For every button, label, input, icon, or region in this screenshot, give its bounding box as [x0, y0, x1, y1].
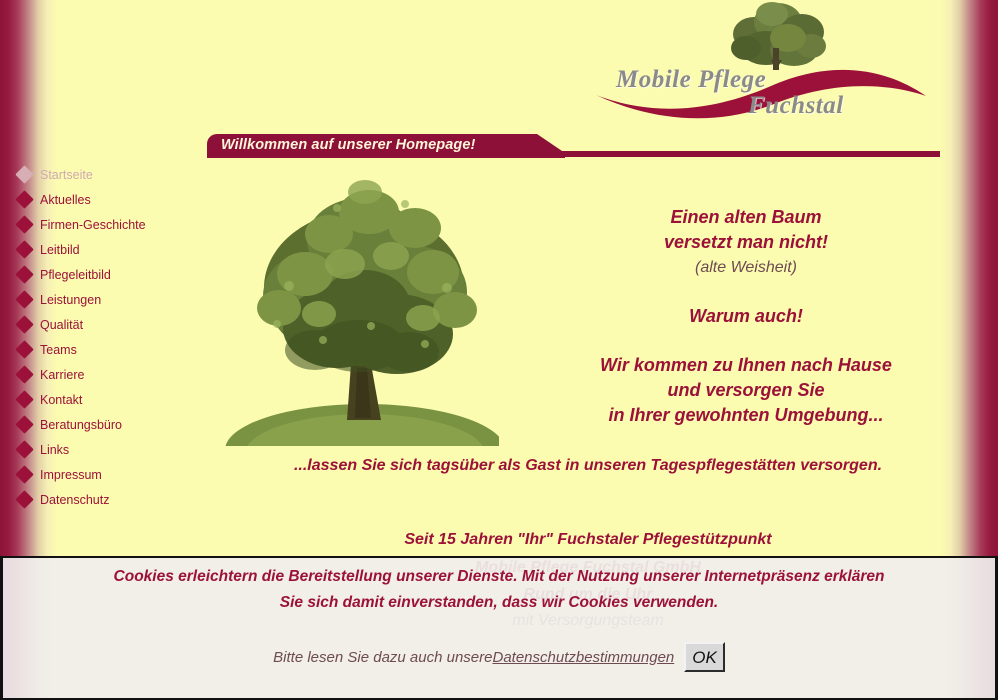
sidebar-item-label: Leitbild	[40, 243, 80, 257]
diamond-bullet-icon	[15, 165, 33, 183]
diamond-bullet-icon	[15, 415, 33, 433]
sidebar-item-label: Datenschutz	[40, 493, 109, 507]
sidebar-item-impressum[interactable]: Impressum	[18, 462, 208, 487]
service-line-1: Wir kommen zu Ihnen nach Hause	[566, 353, 926, 378]
sidebar-item-label: Aktuelles	[40, 193, 91, 207]
sidebar-item-leistungen[interactable]: Leistungen	[18, 287, 208, 312]
sidebar-item-karriere[interactable]: Karriere	[18, 362, 208, 387]
cookie-action-row: Bitte lesen Sie dazu auch unsere Datensc…	[3, 642, 995, 672]
sidebar-item-beratungsbuero[interactable]: Beratungsbüro	[18, 412, 208, 437]
welcome-banner: Willkommen auf unserer Homepage!	[207, 134, 565, 158]
quote-line-2: versetzt man nicht!	[566, 230, 926, 255]
sidebar-item-label: Qualität	[40, 318, 83, 332]
sidebar-item-label: Firmen-Geschichte	[40, 218, 146, 232]
quote-question: Warum auch!	[566, 304, 926, 329]
sidebar-nav: Startseite Aktuelles Firmen-Geschichte L…	[18, 162, 208, 512]
sidebar-item-leitbild[interactable]: Leitbild	[18, 237, 208, 262]
site-logo[interactable]: Mobile Pflege Fuchstal	[596, 0, 926, 130]
privacy-policy-link[interactable]: Datenschutzbestimmungen	[492, 649, 674, 666]
logo-text-line2: Fuchstal	[748, 92, 844, 120]
spacer	[566, 329, 926, 353]
sidebar-item-kontakt[interactable]: Kontakt	[18, 387, 208, 412]
service-line-3: in Ihrer gewohnten Umgebung...	[566, 403, 926, 428]
tree-logo-icon	[731, 2, 826, 70]
service-line-2: und versorgen Sie	[566, 378, 926, 403]
diamond-bullet-icon	[15, 490, 33, 508]
sidebar-item-label: Teams	[40, 343, 77, 357]
cookie-message-line-2: Sie sich damit einverstanden, dass wir C…	[19, 590, 979, 616]
diamond-bullet-icon	[15, 190, 33, 208]
cookie-prompt-text: Bitte lesen Sie dazu auch unsere	[273, 649, 492, 666]
seit-jahren-line: Seit 15 Jahren "Ihr" Fuchstaler Pflegest…	[210, 531, 966, 549]
cookie-message: Cookies erleichtern die Bereitstellung u…	[3, 564, 995, 616]
tagespflege-line: ...lassen Sie sich tagsüber als Gast in …	[210, 457, 966, 475]
cookie-message-line-1: Cookies erleichtern die Bereitstellung u…	[19, 564, 979, 590]
sidebar-item-label: Impressum	[40, 468, 102, 482]
spacer	[566, 280, 926, 304]
sidebar-item-teams[interactable]: Teams	[18, 337, 208, 362]
sidebar-item-label: Startseite	[40, 168, 93, 182]
sidebar-item-label: Links	[40, 443, 69, 457]
sidebar-item-qualitaet[interactable]: Qualität	[18, 312, 208, 337]
diamond-bullet-icon	[15, 265, 33, 283]
diamond-bullet-icon	[15, 240, 33, 258]
sidebar-item-datenschutz[interactable]: Datenschutz	[18, 487, 208, 512]
quote-attribution: (alte Weisheit)	[566, 255, 926, 280]
sidebar-item-label: Beratungsbüro	[40, 418, 122, 432]
sidebar-item-label: Kontakt	[40, 393, 82, 407]
tree-photo-graphic	[219, 168, 499, 446]
sidebar-item-label: Pflegeleitbild	[40, 268, 111, 282]
sidebar-item-label: Leistungen	[40, 293, 101, 307]
diamond-bullet-icon	[15, 340, 33, 358]
cookie-consent-banner: Cookies erleichtern die Bereitstellung u…	[0, 556, 998, 700]
diamond-bullet-icon	[15, 315, 33, 333]
cookie-ok-button[interactable]: OK	[684, 642, 725, 672]
welcome-banner-rule	[540, 151, 968, 157]
main-message-block: Einen alten Baum versetzt man nicht! (al…	[566, 205, 926, 428]
diamond-bullet-icon	[15, 290, 33, 308]
quote-line-1: Einen alten Baum	[566, 205, 926, 230]
sidebar-item-aktuelles[interactable]: Aktuelles	[18, 187, 208, 212]
logo-text-line1: Mobile Pflege	[616, 66, 766, 94]
sidebar-item-pflegeleitbild[interactable]: Pflegeleitbild	[18, 262, 208, 287]
sidebar-item-label: Karriere	[40, 368, 84, 382]
sidebar-item-links[interactable]: Links	[18, 437, 208, 462]
diamond-bullet-icon	[15, 465, 33, 483]
sidebar-item-startseite[interactable]: Startseite	[18, 162, 208, 187]
page-root: Mobile Pflege Fuchstal Willkommen auf un…	[0, 0, 998, 700]
welcome-banner-label: Willkommen auf unserer Homepage!	[221, 137, 475, 153]
diamond-bullet-icon	[15, 365, 33, 383]
diamond-bullet-icon	[15, 390, 33, 408]
diamond-bullet-icon	[15, 215, 33, 233]
diamond-bullet-icon	[15, 440, 33, 458]
oak-tree-image	[219, 168, 499, 446]
sidebar-item-firmen-geschichte[interactable]: Firmen-Geschichte	[18, 212, 208, 237]
